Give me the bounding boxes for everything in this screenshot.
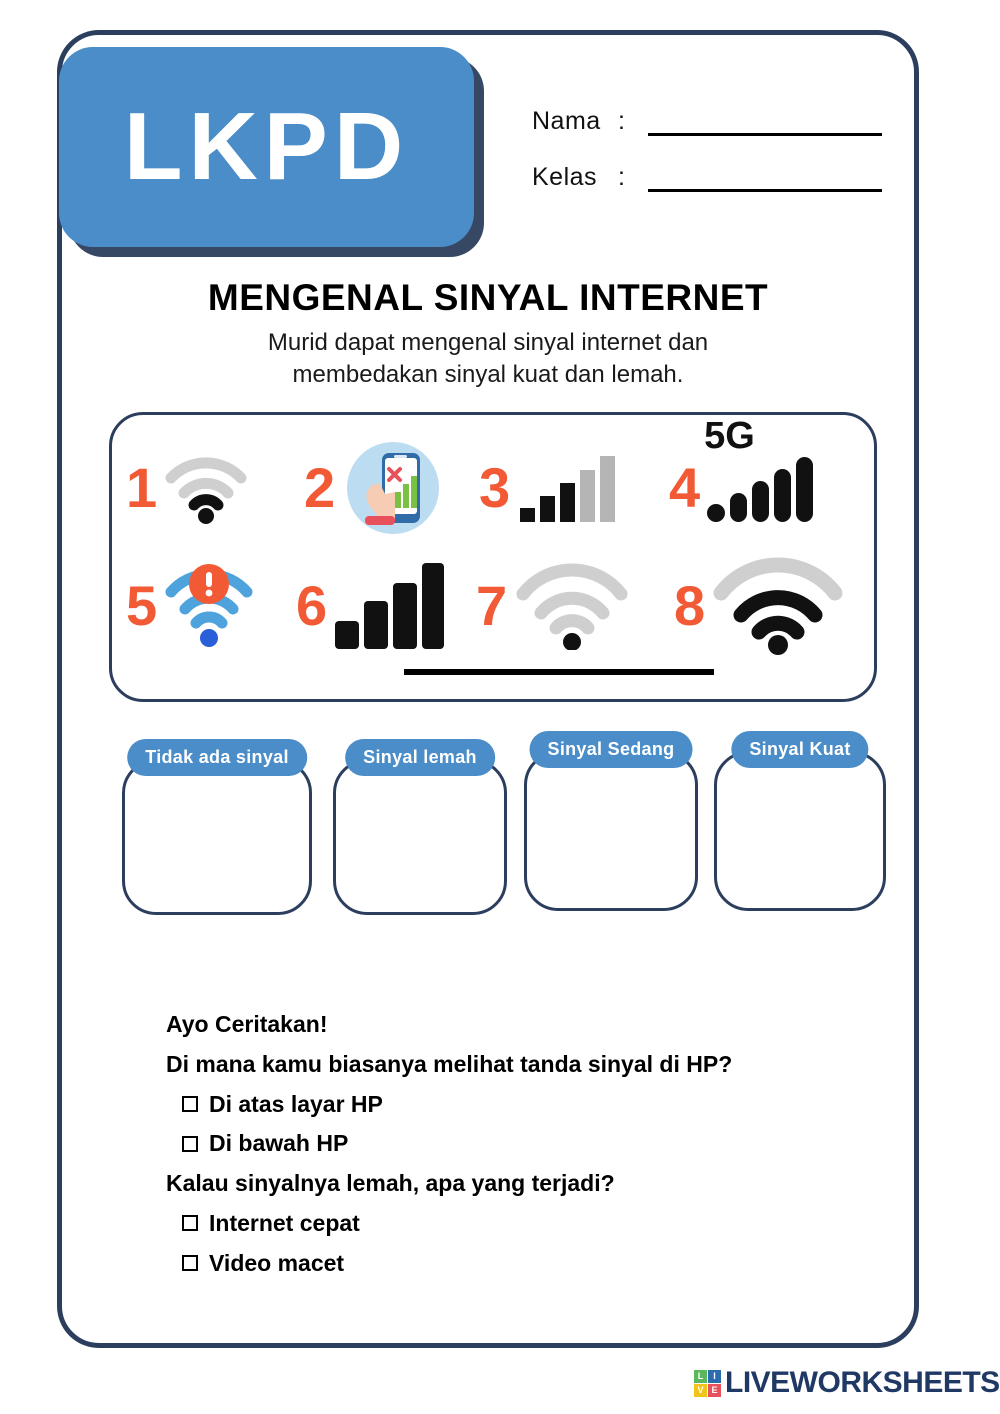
checkbox-icon[interactable] [182,1136,198,1152]
signal-item-5[interactable]: 5 [126,562,296,650]
phone-no-signal-icon [341,436,445,540]
nama-label: Nama [532,107,618,136]
category-answer-box-1[interactable] [333,759,507,915]
item-number-7: 7 [476,578,507,634]
icon-panel-answer-line[interactable] [404,669,714,675]
category-item-1: Sinyal lemah [333,759,507,915]
category-label-0: Tidak ada sinyal [127,739,307,776]
lkpd-label: LKPD [124,99,409,195]
question-2: Kalau sinyalnya lemah, apa yang terjadi? [166,1169,866,1198]
kelas-input-line[interactable] [648,163,882,192]
icon-row-bottom: 5 6 [112,547,874,665]
wifi-alert-icon [163,562,255,650]
wifi-weak-icon [163,452,249,524]
subtitle-line-1: Murid dapat mengenal sinyal internet dan [62,327,914,359]
option-label: Internet cepat [209,1209,360,1238]
logo-letter-v: V [694,1384,707,1397]
kelas-field-row: Kelas : [532,136,882,192]
checkbox-icon[interactable] [182,1215,198,1231]
question-1-option-1[interactable]: Di bawah HP [182,1129,866,1158]
bars-strong-icon [333,561,445,651]
wifi-none-icon [513,562,631,650]
item-number-8: 8 [674,578,705,634]
title-block: MENGENAL SINYAL INTERNET Murid dapat men… [62,277,914,392]
question-1: Di mana kamu biasanya melihat tanda siny… [166,1050,866,1079]
category-item-0: Tidak ada sinyal [122,759,312,915]
logo-mark-icon: L I V E [694,1370,721,1397]
checkbox-icon[interactable] [182,1255,198,1271]
category-boxes: Tidak ada sinyal Sinyal lemah Sinyal Sed… [114,735,914,955]
signal-item-6[interactable]: 6 [296,561,476,651]
category-label-1: Sinyal lemah [345,739,495,776]
kelas-colon: : [618,163,648,192]
category-item-3: Sinyal Kuat [714,751,886,911]
student-fields: Nama : Kelas : [532,80,882,192]
item-number-5: 5 [126,578,157,634]
signal-item-7[interactable]: 7 [476,562,674,650]
category-item-2: Sinyal Sedang [524,751,698,911]
checkbox-icon[interactable] [182,1096,198,1112]
logo-letter-e: E [708,1384,721,1397]
kelas-label: Kelas [532,163,618,192]
question-2-option-0[interactable]: Internet cepat [182,1209,866,1238]
worksheet-card: LKPD Nama : Kelas : MENGENAL SINYAL INTE… [57,30,919,1348]
nama-input-line[interactable] [648,107,882,136]
category-answer-box-0[interactable] [122,759,312,915]
option-label: Di atas layar HP [209,1090,383,1119]
bars-5g-full-icon: 5G [706,453,814,523]
icon-row-top: 1 2 [112,429,874,547]
item-number-4: 4 [669,460,700,516]
brand-wordmark: LIVEWORKSHEETS [725,1366,1000,1400]
signal-item-2[interactable]: 2 [304,436,479,540]
question-2-option-1[interactable]: Video macet [182,1249,866,1278]
question-1-option-0[interactable]: Di atas layar HP [182,1090,866,1119]
bars-medium-icon [516,452,624,524]
option-label: Di bawah HP [209,1129,348,1158]
signal-item-4[interactable]: 4 5G [669,453,849,523]
item-number-6: 6 [296,578,327,634]
category-label-2: Sinyal Sedang [530,731,693,768]
item-number-1: 1 [126,460,157,516]
signal-item-1[interactable]: 1 [126,452,304,524]
lkpd-badge: LKPD [59,47,474,247]
signal-icon-panel: 1 2 [109,412,877,702]
nama-field-row: Nama : [532,80,882,136]
logo-letter-i: I [708,1370,721,1383]
five-g-label: 5G [704,417,755,455]
nama-colon: : [618,107,648,136]
questions-heading: Ayo Ceritakan! [166,1010,866,1039]
wifi-strong-icon [711,557,845,655]
signal-item-3[interactable]: 3 [479,452,669,524]
category-answer-box-2[interactable] [524,751,698,911]
category-answer-box-3[interactable] [714,751,886,911]
liveworksheets-logo[interactable]: L I V E LIVEWORKSHEETS [694,1366,1000,1400]
signal-item-8[interactable]: 8 [674,557,864,655]
page-title: MENGENAL SINYAL INTERNET [62,277,914,319]
item-number-2: 2 [304,460,335,516]
item-number-3: 3 [479,460,510,516]
subtitle-line-2: membedakan sinyal kuat dan lemah. [62,359,914,391]
logo-letter-l: L [694,1370,707,1383]
option-label: Video macet [209,1249,344,1278]
category-label-3: Sinyal Kuat [731,731,868,768]
questions-section: Ayo Ceritakan! Di mana kamu biasanya mel… [166,1010,866,1288]
